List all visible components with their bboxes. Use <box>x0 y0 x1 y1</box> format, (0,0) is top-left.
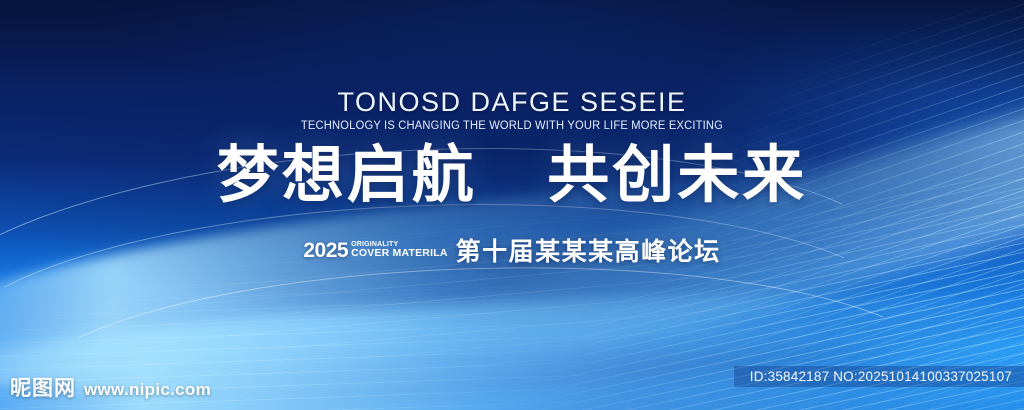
main-title: 梦想启航 共创未来 <box>0 143 1024 210</box>
watermark-logo-text: 昵图网 <box>10 372 76 402</box>
year-badge: 2025 ORIGINALITY COVER MATERILA <box>303 240 447 261</box>
english-title: TONOSD DAFGE SESEIE <box>0 87 1024 118</box>
image-id-strip: ID:35842187 NO:20251014100337025107 <box>734 366 1024 387</box>
watermark: 昵图网 www.nipic.com <box>10 372 211 402</box>
english-tagline: TECHNOLOGY IS CHANGING THE WORLD WITH YO… <box>15 120 1008 132</box>
poster-canvas: TONOSD DAFGE SESEIE TECHNOLOGY IS CHANGI… <box>0 0 1024 410</box>
year-number: 2025 <box>303 240 348 261</box>
subtitle-row: 2025 ORIGINALITY COVER MATERILA 第十届某某某高峰… <box>0 232 1024 268</box>
year-wordmark: ORIGINALITY COVER MATERILA <box>351 241 448 259</box>
forum-title: 第十届某某某高峰论坛 <box>456 232 721 268</box>
main-title-part-2: 共创未来 <box>547 141 807 210</box>
year-word-bottom: COVER MATERILA <box>351 248 448 259</box>
poster-content: TONOSD DAFGE SESEIE TECHNOLOGY IS CHANGI… <box>0 0 1024 410</box>
main-title-part-1: 梦想启航 <box>217 141 477 210</box>
watermark-url: www.nipic.com <box>84 380 211 400</box>
